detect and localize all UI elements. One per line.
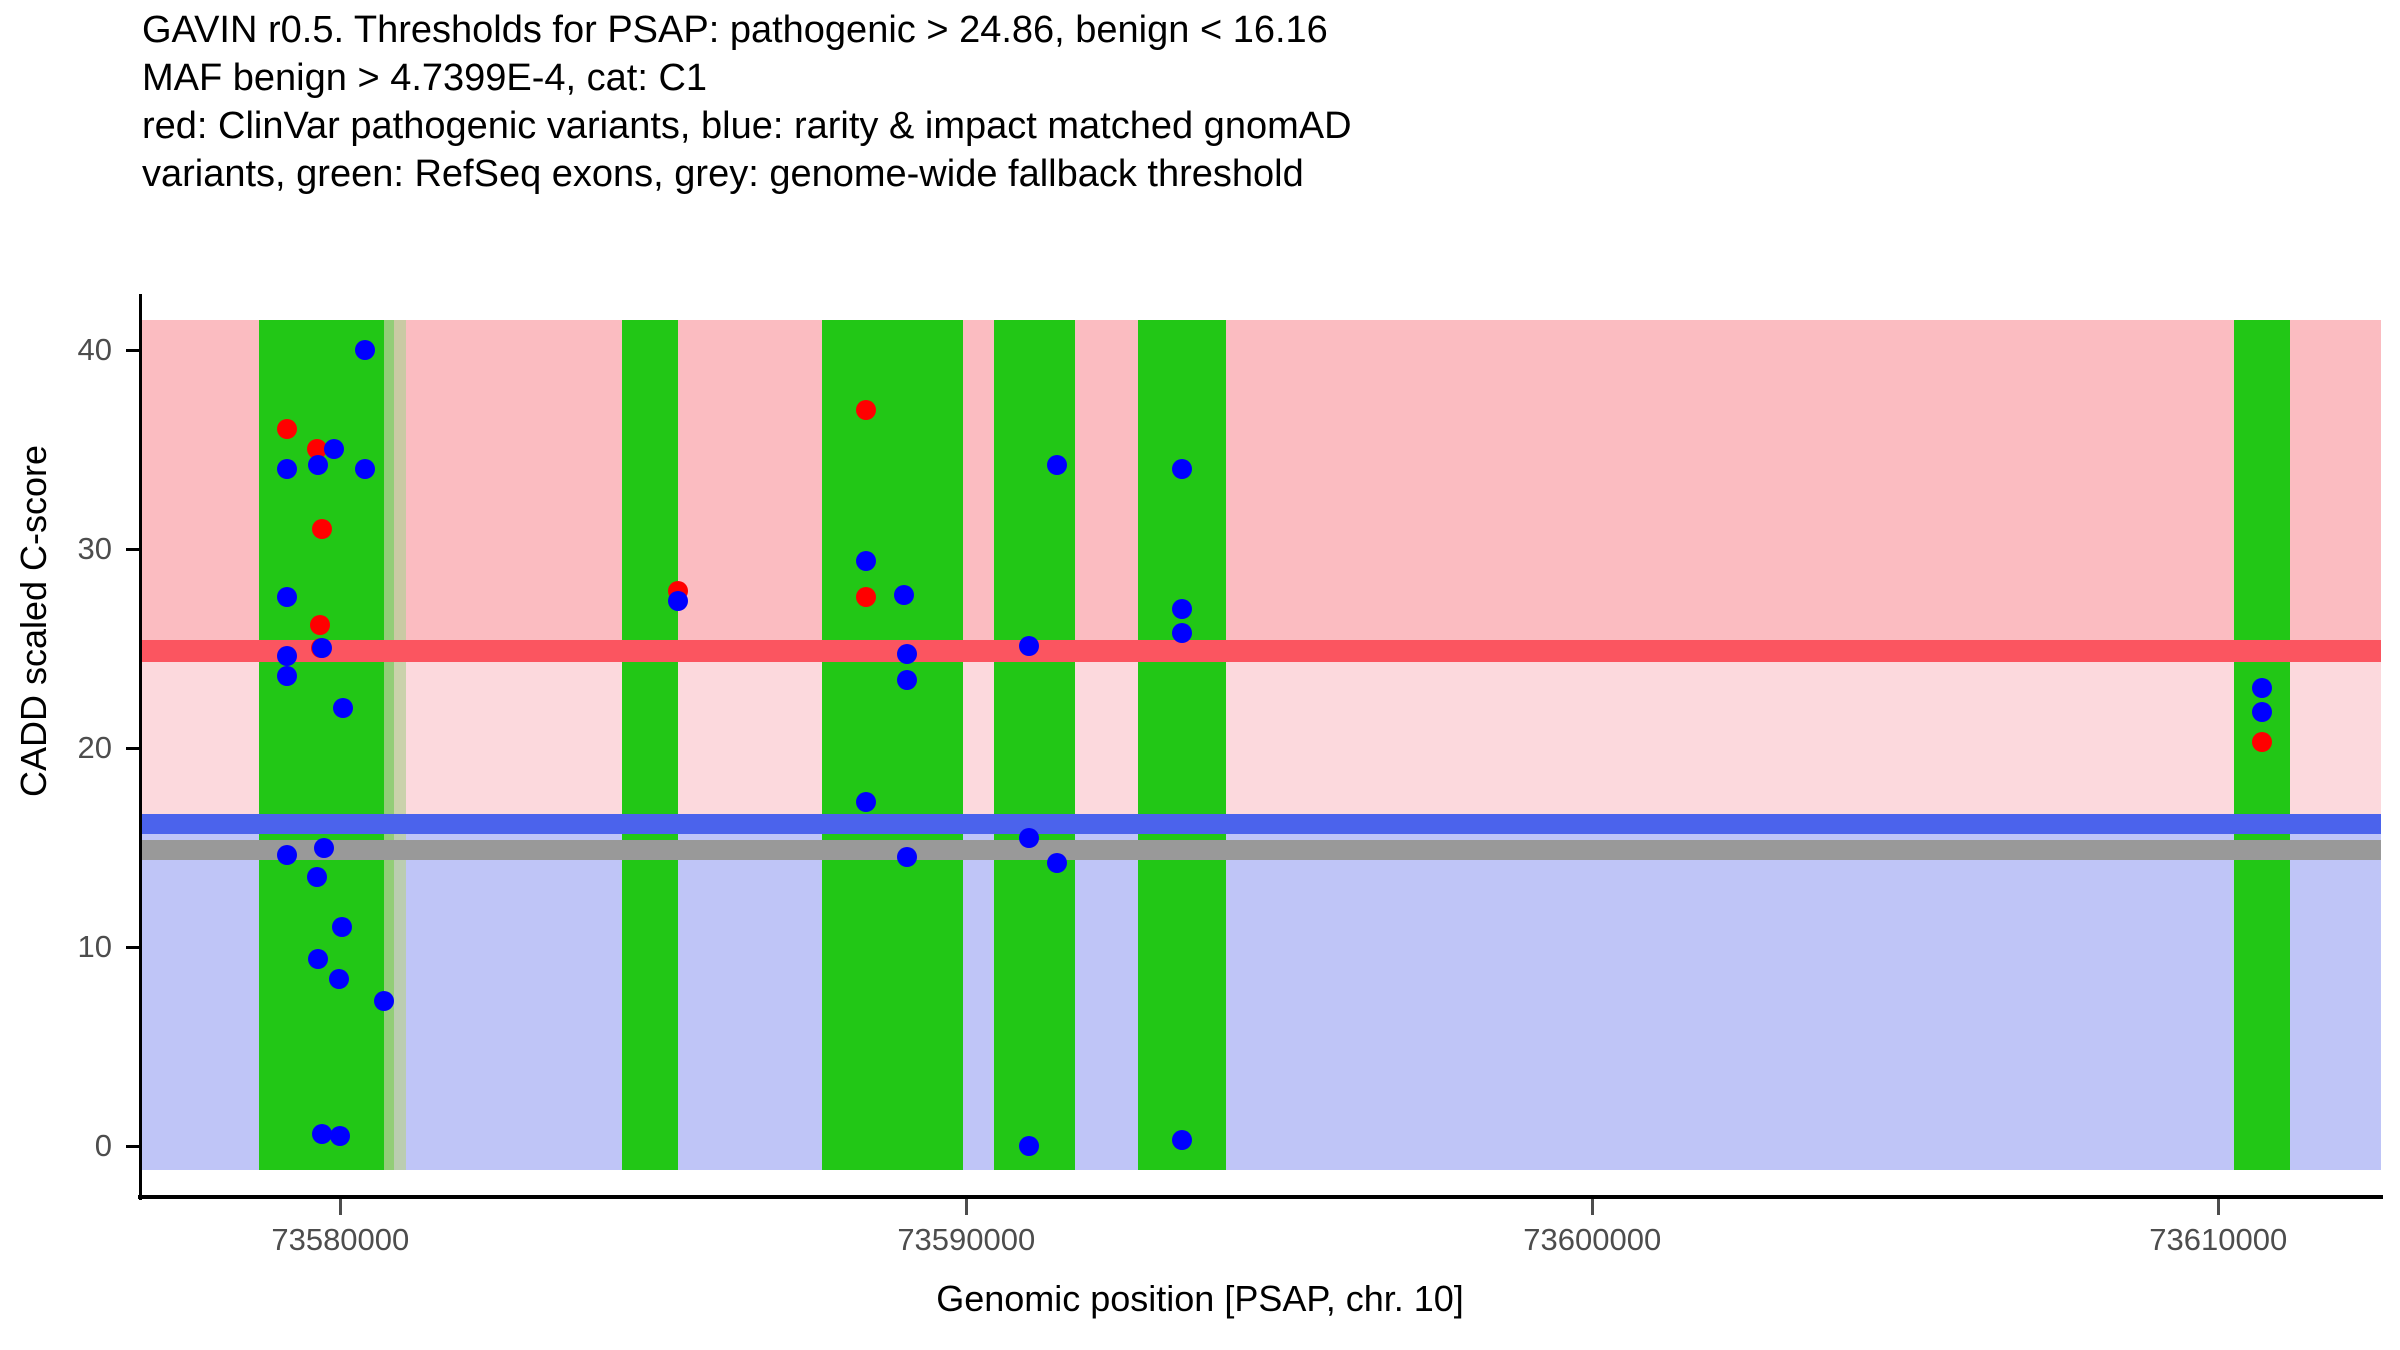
x-axis-tick [1591, 1199, 1594, 1215]
variant-point-gnomad [856, 792, 876, 812]
variant-point-gnomad [277, 459, 297, 479]
plot-area [140, 320, 2381, 1170]
variant-point-gnomad [897, 670, 917, 690]
variant-point-gnomad [374, 991, 394, 1011]
variant-point-gnomad [355, 340, 375, 360]
variant-point-gnomad [2252, 678, 2272, 698]
variant-point-gnomad [330, 1126, 350, 1146]
variant-point-gnomad [1047, 455, 1067, 475]
refseq-exon-line [384, 320, 406, 1170]
variant-point-gnomad [668, 591, 688, 611]
variant-point-pathogenic [856, 400, 876, 420]
y-axis-tick [126, 548, 140, 551]
variant-point-gnomad [1172, 623, 1192, 643]
variant-point-gnomad [1172, 459, 1192, 479]
refseq-exon-line [622, 320, 678, 1170]
variant-point-gnomad [2252, 702, 2272, 722]
variant-point-gnomad [277, 646, 297, 666]
variant-point-gnomad [333, 698, 353, 718]
pathogenic-threshold-line [140, 640, 2381, 662]
title-line-1: GAVIN r0.5. Thresholds for PSAP: pathoge… [142, 6, 2322, 54]
variant-point-gnomad [897, 644, 917, 664]
variant-point-gnomad [277, 587, 297, 607]
x-axis-tick [2217, 1199, 2220, 1215]
plot-panel [140, 320, 2381, 1170]
x-axis-line [138, 1195, 2383, 1199]
variant-point-pathogenic [310, 615, 330, 635]
x-axis-tick-label: 73610000 [2149, 1222, 2287, 1258]
band-vous [140, 651, 2381, 824]
y-axis-tick [126, 1145, 140, 1148]
y-axis-tick [126, 946, 140, 949]
variant-point-gnomad [308, 455, 328, 475]
variant-point-gnomad [308, 949, 328, 969]
chart-root: GAVIN r0.5. Thresholds for PSAP: pathoge… [0, 0, 2400, 1350]
title-line-4: variants, green: RefSeq exons, grey: gen… [142, 150, 2322, 198]
variant-point-gnomad [897, 847, 917, 867]
variant-point-pathogenic [312, 519, 332, 539]
variant-point-gnomad [312, 1124, 332, 1144]
variant-point-gnomad [332, 917, 352, 937]
variant-point-gnomad [1047, 853, 1067, 873]
variant-point-gnomad [307, 867, 327, 887]
variant-point-gnomad [1172, 599, 1192, 619]
y-axis-tick [126, 349, 140, 352]
variant-point-pathogenic [856, 587, 876, 607]
refseq-exon-line [886, 320, 930, 1170]
x-axis-tick [965, 1199, 968, 1215]
refseq-exon-line [1040, 320, 1074, 1170]
variant-point-gnomad [329, 969, 349, 989]
variant-point-gnomad [856, 551, 876, 571]
y-axis-label: CADD scaled C-score [13, 301, 55, 941]
chart-title-block: GAVIN r0.5. Thresholds for PSAP: pathoge… [142, 6, 2322, 198]
x-axis-tick-label: 73580000 [271, 1222, 409, 1258]
band-benign [140, 824, 2381, 1170]
variant-point-gnomad [894, 585, 914, 605]
variant-point-gnomad [312, 638, 332, 658]
variant-point-gnomad [277, 845, 297, 865]
variant-point-pathogenic [277, 419, 297, 439]
refseq-exon-line [1138, 320, 1226, 1170]
variant-point-gnomad [1019, 1136, 1039, 1156]
benign-threshold-line [140, 814, 2381, 834]
y-axis-tick [126, 747, 140, 750]
variant-point-gnomad [1172, 1130, 1192, 1150]
x-axis-tick-label: 73590000 [897, 1222, 1035, 1258]
title-line-2: MAF benign > 4.7399E-4, cat: C1 [142, 54, 2322, 102]
band-pathogenic [140, 320, 2381, 651]
variant-point-gnomad [1019, 636, 1039, 656]
variant-point-gnomad [324, 439, 344, 459]
variant-point-gnomad [355, 459, 375, 479]
variant-point-pathogenic [2252, 732, 2272, 752]
variant-point-gnomad [1019, 828, 1039, 848]
variant-point-gnomad [277, 666, 297, 686]
title-line-3: red: ClinVar pathogenic variants, blue: … [142, 102, 2322, 150]
variant-point-gnomad [314, 838, 334, 858]
x-axis-tick-label: 73600000 [1523, 1222, 1661, 1258]
x-axis-label: Genomic position [PSAP, chr. 10] [0, 1278, 2400, 1320]
x-axis-tick [339, 1199, 342, 1215]
fallback-threshold-line [140, 840, 2381, 860]
y-axis-tick-label: 0 [0, 1128, 112, 1164]
